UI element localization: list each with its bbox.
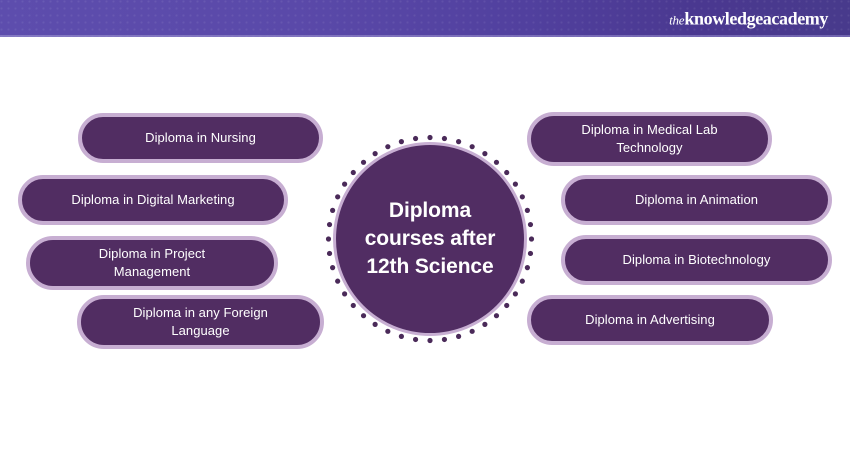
- center-hub-circle: Diploma courses after 12th Science: [336, 145, 524, 333]
- center-hub-title: Diploma courses after 12th Science: [351, 197, 510, 280]
- pill-label: Diploma in Digital Marketing: [71, 191, 234, 209]
- pill-diploma-in-medical-lab-technology[interactable]: Diploma in Medical Lab Technology: [527, 112, 772, 166]
- pill-label: Diploma in Nursing: [145, 129, 256, 147]
- pill-diploma-in-project-management[interactable]: Diploma in Project Management: [26, 236, 278, 290]
- pill-label: Diploma in Medical Lab Technology: [581, 121, 717, 156]
- pill-label: Diploma in Advertising: [585, 311, 715, 329]
- brand-logo: theknowledgeacademy: [669, 9, 828, 28]
- header-bar: theknowledgeacademy: [0, 0, 850, 37]
- pill-diploma-in-nursing[interactable]: Diploma in Nursing: [78, 113, 323, 163]
- pill-label: Diploma in Biotechnology: [623, 251, 771, 269]
- pill-label: Diploma in any Foreign Language: [133, 304, 268, 339]
- brand-logo-prefix: the: [669, 12, 684, 27]
- pill-label: Diploma in Animation: [635, 191, 758, 209]
- hub-and-spoke-diagram: Diploma courses after 12th Science Diplo…: [0, 37, 850, 450]
- pill-label: Diploma in Project Management: [99, 245, 205, 280]
- pill-diploma-in-any-foreign-language[interactable]: Diploma in any Foreign Language: [77, 295, 324, 349]
- pill-diploma-in-advertising[interactable]: Diploma in Advertising: [527, 295, 773, 345]
- pill-diploma-in-digital-marketing[interactable]: Diploma in Digital Marketing: [18, 175, 288, 225]
- pill-diploma-in-biotechnology[interactable]: Diploma in Biotechnology: [561, 235, 832, 285]
- pill-diploma-in-animation[interactable]: Diploma in Animation: [561, 175, 832, 225]
- center-hub: Diploma courses after 12th Science: [325, 134, 535, 344]
- brand-logo-name: knowledgeacademy: [684, 8, 828, 28]
